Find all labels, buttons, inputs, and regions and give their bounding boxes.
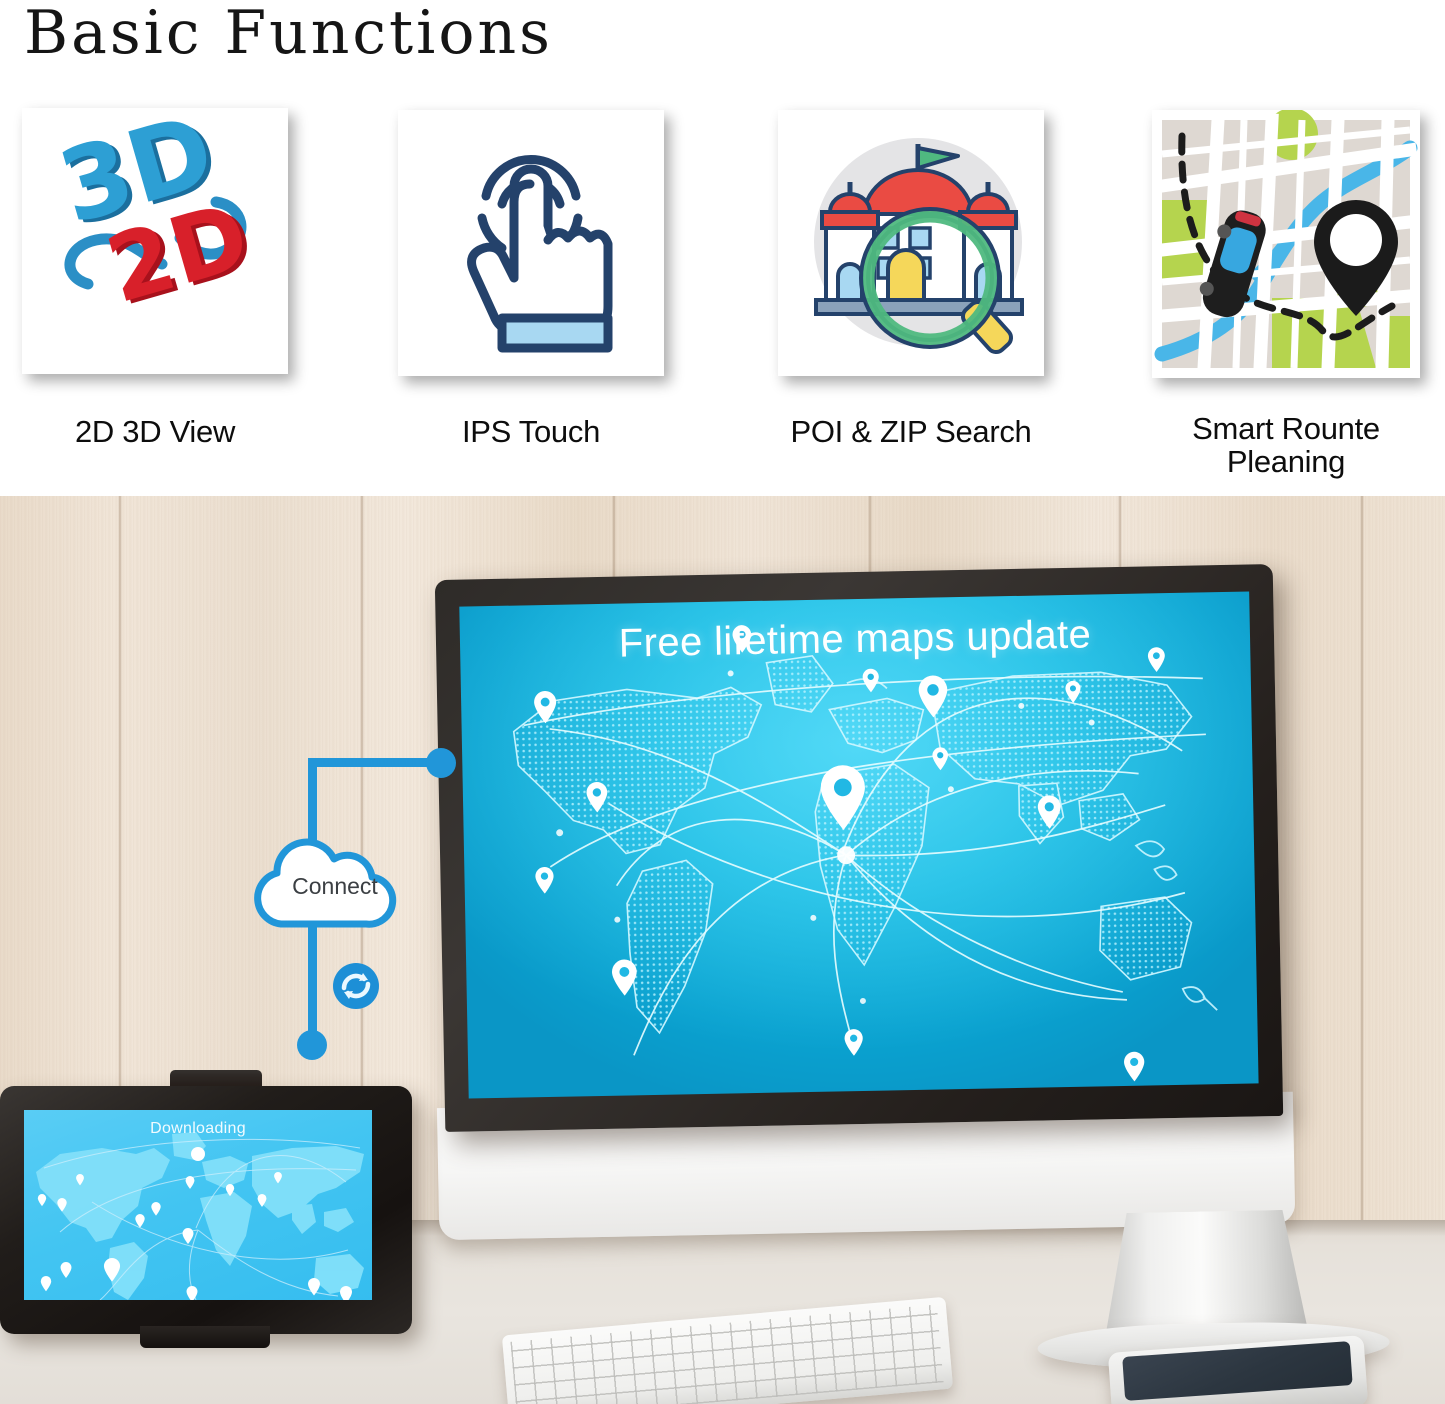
- world-map-graphic: [459, 591, 1258, 1098]
- connector-line-vertical-lower: [308, 920, 317, 1036]
- gps-navigation-device: Downloading: [0, 1080, 420, 1362]
- page-title: Basic Functions: [24, 0, 553, 68]
- 3d-2d-view-icon: 2D 2D 3D 3D: [22, 108, 288, 374]
- gps-mount-bottom: [140, 1326, 270, 1348]
- desktop-monitor: Free lifetime maps update: [435, 564, 1283, 1132]
- feature-tile-smart-route-planning[interactable]: [1152, 110, 1420, 378]
- feature-label-2d-3d-view: 2D 3D View: [22, 415, 288, 448]
- feature-tile-2d-3d-view[interactable]: 2D 2D 3D 3D: [22, 108, 288, 374]
- connector-dot-bottom: [297, 1030, 327, 1060]
- connect-diagram: Connect: [248, 744, 498, 1074]
- feature-label-poi-zip-search: POI & ZIP Search: [778, 415, 1044, 448]
- feature-label-smart-route-planning: Smart Rounte Pleaning: [1148, 412, 1424, 479]
- cloud-label: Connect: [270, 873, 400, 900]
- smartphone-screen: [1122, 1341, 1353, 1401]
- connector-dot-top: [426, 748, 456, 778]
- map-route-icon: [1152, 110, 1420, 378]
- gps-world-map-graphic: [24, 1110, 372, 1300]
- feature-tile-ips-touch[interactable]: [398, 110, 664, 376]
- sync-refresh-icon: [332, 962, 380, 1010]
- landmark-search-icon: [778, 110, 1044, 376]
- feature-label-ips-touch: IPS Touch: [398, 415, 664, 448]
- monitor-screen[interactable]: Free lifetime maps update: [459, 591, 1258, 1098]
- wood-plank-seam: [1360, 496, 1364, 1248]
- connector-line-top: [308, 758, 440, 767]
- feature-tile-poi-zip-search[interactable]: [778, 110, 1044, 376]
- monitor-stand-neck: [1102, 1209, 1309, 1341]
- gps-device-screen[interactable]: Downloading: [24, 1110, 372, 1300]
- product-photo-section: Free lifetime maps update Connect: [0, 496, 1445, 1404]
- gps-screen-title: Downloading: [24, 1120, 372, 1138]
- features-header-section: Basic Functions 2D 2D 3D 3D: [0, 0, 1445, 496]
- connector-line-vertical-upper: [308, 758, 317, 844]
- touch-hand-icon: [398, 110, 664, 376]
